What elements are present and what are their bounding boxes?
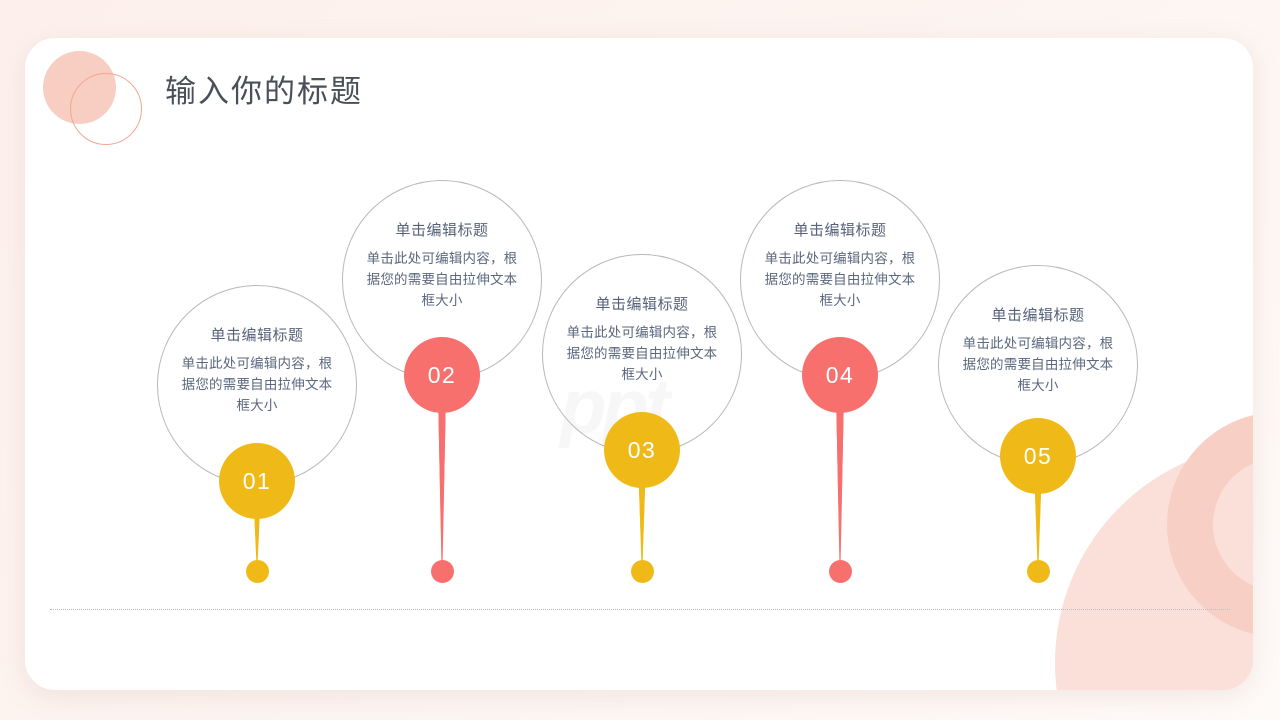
step-number-badge[interactable]: 03 — [604, 412, 680, 488]
step-body: 单击此处可编辑内容，根据您的需要自由拉伸文本框大小 — [177, 354, 337, 417]
step-number-label: 05 — [1024, 443, 1053, 470]
step-body: 单击此处可编辑内容，根据您的需要自由拉伸文本框大小 — [958, 334, 1118, 397]
step-title: 单击编辑标题 — [991, 304, 1084, 325]
step-number-badge[interactable]: 01 — [219, 443, 295, 519]
timeline-dot[interactable] — [1027, 560, 1050, 583]
step-title: 单击编辑标题 — [395, 219, 488, 240]
step-title: 单击编辑标题 — [793, 219, 886, 240]
page-title: 输入你的标题 — [165, 66, 363, 111]
step-number-label: 02 — [428, 362, 457, 389]
step-number-label: 03 — [628, 437, 657, 464]
step-number-badge[interactable]: 05 — [1000, 418, 1076, 494]
slide-card: 输入你的标题 ppt 单击编辑标题单击此处可编辑内容，根据您的需要自由拉伸文本框… — [25, 38, 1253, 690]
step-number-badge[interactable]: 02 — [404, 337, 480, 413]
step-body: 单击此处可编辑内容，根据您的需要自由拉伸文本框大小 — [362, 249, 522, 312]
timeline-dot[interactable] — [631, 560, 654, 583]
timeline-dot[interactable] — [431, 560, 454, 583]
step-title: 单击编辑标题 — [210, 324, 303, 345]
timeline-dot[interactable] — [829, 560, 852, 583]
decorative-pink-ring-outline — [70, 73, 142, 145]
step-number-label: 01 — [243, 468, 272, 495]
step-number-label: 04 — [826, 362, 855, 389]
step-title: 单击编辑标题 — [595, 293, 688, 314]
step-body: 单击此处可编辑内容，根据您的需要自由拉伸文本框大小 — [760, 249, 920, 312]
step-number-badge[interactable]: 04 — [802, 337, 878, 413]
timeline-baseline — [50, 609, 1230, 610]
step-body: 单击此处可编辑内容，根据您的需要自由拉伸文本框大小 — [562, 323, 722, 386]
timeline-dot[interactable] — [246, 560, 269, 583]
